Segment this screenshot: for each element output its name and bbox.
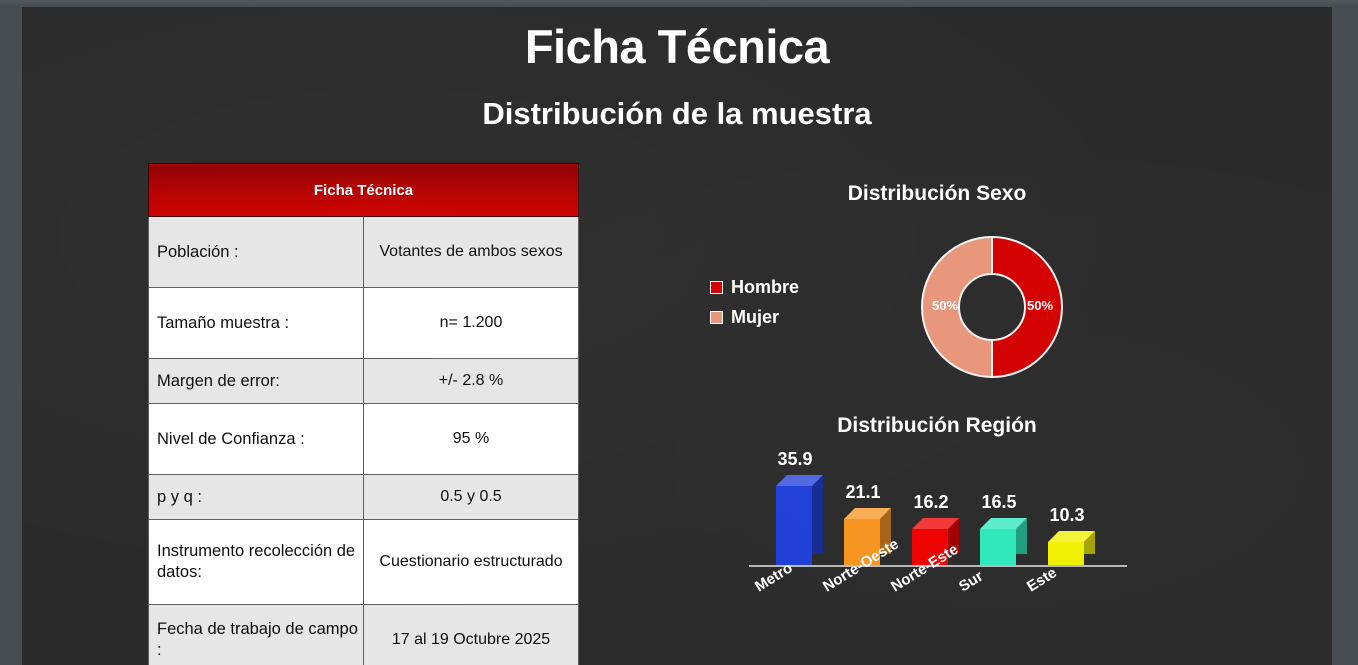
legend-label: Mujer: [731, 307, 779, 328]
table-row: Fecha de trabajo de campo : 17 al 19 Oct…: [149, 605, 579, 665]
slide-canvas: Ficha Técnica Distribución de la muestra…: [22, 7, 1332, 665]
donut-label-hombre: 50%: [1014, 298, 1066, 313]
table-row: Población : Votantes de ambos sexos: [149, 217, 579, 288]
row-label: Nivel de Confianza :: [149, 404, 364, 475]
bar-face-front: [776, 486, 812, 565]
sexo-chart-legend: Hombre Mujer: [710, 277, 799, 337]
row-label: Población :: [149, 217, 364, 288]
bar-category-label: Este: [1024, 564, 1060, 595]
bar-value-label: 16.2: [903, 492, 959, 513]
table-row: Margen de error: +/- 2.8 %: [149, 359, 579, 404]
sexo-chart-title: Distribución Sexo: [757, 182, 1117, 206]
row-value: 0.5 y 0.5: [364, 475, 579, 520]
donut-label-mujer: 50%: [919, 298, 971, 313]
table-row: Instrumento recolección de datos: Cuesti…: [149, 520, 579, 605]
bar-face-side: [812, 475, 823, 554]
slide-frame: Ficha Técnica Distribución de la muestra…: [0, 0, 1358, 665]
row-value: Cuestionario estructurado: [364, 520, 579, 605]
bar-face-front: [980, 529, 1016, 565]
table-header-title: Ficha Técnica: [149, 164, 579, 217]
legend-label: Hombre: [731, 277, 799, 298]
row-value: +/- 2.8 %: [364, 359, 579, 404]
table-row: Tamaño muestra : n= 1.200: [149, 288, 579, 359]
region-chart-title: Distribución Región: [757, 414, 1117, 438]
row-label: Margen de error:: [149, 359, 364, 404]
row-value: Votantes de ambos sexos: [364, 217, 579, 288]
row-label: Tamaño muestra :: [149, 288, 364, 359]
table-header-row: Ficha Técnica: [149, 164, 579, 217]
row-label: p y q :: [149, 475, 364, 520]
bar-value-label: 21.1: [835, 482, 891, 503]
page-title: Ficha Técnica: [22, 21, 1332, 73]
page-subtitle: Distribución de la muestra: [22, 97, 1332, 131]
bar-category-label: Sur: [956, 568, 986, 596]
bar-value-label: 35.9: [767, 449, 823, 470]
bar-value-label: 10.3: [1039, 505, 1095, 526]
row-label: Instrumento recolección de datos:: [149, 520, 364, 605]
table-row: Nivel de Confianza : 95 %: [149, 404, 579, 475]
legend-item-hombre: Hombre: [710, 277, 799, 298]
legend-item-mujer: Mujer: [710, 307, 799, 328]
table-row: p y q : 0.5 y 0.5: [149, 475, 579, 520]
bar-value-label: 16.5: [971, 492, 1027, 513]
row-value: 95 %: [364, 404, 579, 475]
region-bar-chart: 35.9Metro21.1Norte-Oeste16.2Norte-Este16…: [722, 447, 1142, 665]
row-value: 17 al 19 Octubre 2025: [364, 605, 579, 665]
row-value: n= 1.200: [364, 288, 579, 359]
bar-face-front: [1048, 542, 1084, 565]
legend-swatch-icon: [710, 311, 723, 324]
legend-swatch-icon: [710, 281, 723, 294]
row-label: Fecha de trabajo de campo :: [149, 605, 364, 665]
ficha-tecnica-table: Ficha Técnica Población : Votantes de am…: [148, 163, 579, 665]
